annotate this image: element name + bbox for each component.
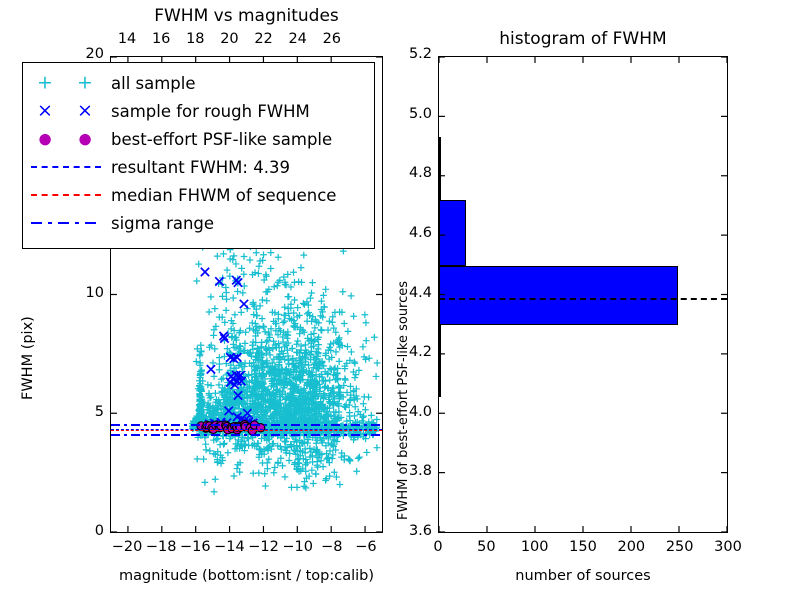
x-tick-label-top: 26 — [314, 31, 350, 47]
right-x-tick-label: 50 — [466, 539, 506, 555]
right-x-tick-label: 300 — [708, 539, 748, 555]
right-y-tick-label: 4.6 — [394, 225, 432, 241]
right-y-tick-label: 5.0 — [394, 106, 432, 122]
legend-label: sigma range — [111, 214, 214, 233]
left-plot-ylabel: FWHM (pix) — [20, 316, 36, 400]
legend-item[interactable]: ××sample for rough FWHM — [23, 97, 374, 125]
legend-box[interactable]: ++all sample××sample for rough FWHM●●bes… — [22, 62, 375, 249]
legend-item[interactable]: resultant FWHM: 4.39 — [23, 153, 374, 181]
x-tick-label: −6 — [348, 539, 384, 555]
legend-item[interactable]: sigma range — [23, 209, 374, 237]
x-tick-label: −14 — [211, 539, 247, 555]
right-x-tick-label: 200 — [611, 539, 651, 555]
y-tick-label: 10 — [68, 285, 104, 301]
legend-label: sample for rough FWHM — [111, 102, 310, 121]
x-tick-label: −10 — [280, 539, 316, 555]
legend-label: median FHWM of sequence — [111, 186, 336, 205]
plus-marker: ++ — [23, 69, 111, 97]
right-plot-tickmarks — [439, 57, 727, 532]
right-x-tick-label: 250 — [660, 539, 700, 555]
y-tick-label: 20 — [68, 46, 104, 62]
x-tick-label: −12 — [246, 539, 282, 555]
dashed-line — [23, 153, 111, 181]
x-tick-label-top: 16 — [143, 31, 179, 47]
x-tick-label-top: 24 — [280, 31, 316, 47]
legend-item[interactable]: ++all sample — [23, 69, 374, 97]
legend-label: best-effort PSF-like sample — [111, 130, 332, 149]
right-plot-axes[interactable] — [438, 56, 728, 533]
legend-item[interactable]: median FHWM of sequence — [23, 181, 374, 209]
x-tick-label-top: 22 — [246, 31, 282, 47]
right-y-tick-label: 5.2 — [394, 46, 432, 62]
right-y-tick-label: 3.6 — [394, 523, 432, 539]
x-tick-label: −16 — [177, 539, 213, 555]
circle-marker: ●● — [23, 125, 111, 153]
y-tick-label: 5 — [68, 404, 104, 420]
right-x-tick-label: 100 — [515, 539, 555, 555]
figure-canvas: FWHM vs magnitudes 14161820222426 −20−18… — [0, 0, 800, 600]
y-tick-label: 0 — [68, 523, 104, 539]
right-plot-title: histogram of FWHM — [438, 29, 728, 49]
cross-marker: ×× — [23, 97, 111, 125]
right-x-tick-label: 150 — [563, 539, 603, 555]
right-x-tick-label: 0 — [418, 539, 458, 555]
x-tick-label: −20 — [109, 539, 145, 555]
legend-item[interactable]: ●●best-effort PSF-like sample — [23, 125, 374, 153]
x-tick-label-top: 18 — [177, 31, 213, 47]
dashed-line — [23, 181, 111, 209]
x-tick-label: −8 — [314, 539, 350, 555]
legend-label: all sample — [111, 74, 196, 93]
x-tick-label: −18 — [143, 539, 179, 555]
x-tick-label-top: 20 — [211, 31, 247, 47]
right-plot-xlabel: number of sources — [438, 568, 728, 584]
right-plot-ylabel: FWHM of best-effort PSF-like sources — [396, 281, 411, 520]
left-plot-xlabel: magnitude (bottom:isnt / top:calib) — [110, 568, 383, 584]
x-tick-label-top: 14 — [109, 31, 145, 47]
right-y-tick-label: 4.8 — [394, 165, 432, 181]
dashdot-line — [23, 209, 111, 237]
left-plot-title: FWHM vs magnitudes — [110, 6, 383, 26]
legend-label: resultant FWHM: 4.39 — [111, 158, 290, 177]
